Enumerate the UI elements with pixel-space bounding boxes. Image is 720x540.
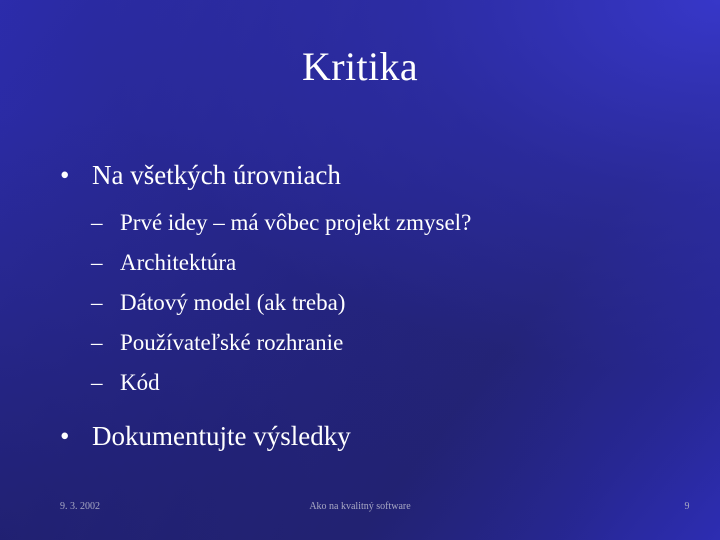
- bullet-level2-architektura: – Architektúra: [0, 243, 720, 283]
- dash-marker-icon: –: [91, 323, 103, 363]
- dash-marker-icon: –: [91, 363, 103, 403]
- bullet-level1-dokumentujte-vysledky: • Dokumentujte výsledky: [0, 419, 720, 453]
- bullet-level2-label: Kód: [120, 370, 160, 395]
- bullet-level2-label: Dátový model (ak treba): [120, 290, 345, 315]
- dash-marker-icon: –: [91, 283, 103, 323]
- slide-title-placeholder: Kritika: [0, 44, 720, 90]
- presentation-slide: Kritika • Na všetkých úrovniach – Prvé i…: [0, 0, 720, 540]
- bullet-level2-kod: – Kód: [0, 363, 720, 403]
- sub-bullet-list: – Prvé idey – má vôbec projekt zmysel? –…: [0, 203, 720, 403]
- footer-title: Ako na kvalitný software: [0, 500, 720, 514]
- slide-footer: 9. 3. 2002 Ako na kvalitný software 9: [0, 500, 720, 514]
- bullet-level2-prve-idey: – Prvé idey – má vôbec projekt zmysel?: [0, 203, 720, 243]
- bullet-level2-label: Prvé idey – má vôbec projekt zmysel?: [120, 210, 471, 235]
- dash-marker-icon: –: [91, 203, 103, 243]
- bullet-level1-row: • Dokumentujte výsledky: [0, 419, 720, 453]
- bullet-level1-na-vsetkych-urovniach: • Na všetkých úrovniach: [0, 158, 720, 192]
- bullet-level1-label: Na všetkých úrovniach: [92, 160, 341, 190]
- bullet-level2-pouzivatelske-rozhranie: – Používateľské rozhranie: [0, 323, 720, 363]
- bullet-level1-label: Dokumentujte výsledky: [92, 421, 351, 451]
- bullet-dot-icon: •: [60, 419, 69, 453]
- bullet-dot-icon: •: [60, 158, 69, 192]
- bullet-level2-label: Architektúra: [120, 250, 236, 275]
- slide-body-placeholder: • Na všetkých úrovniach – Prvé idey – má…: [0, 158, 720, 453]
- slide-number: 9: [654, 500, 720, 514]
- bullet-level2-label: Používateľské rozhranie: [120, 330, 343, 355]
- bullet-level2-datovy-model: – Dátový model (ak treba): [0, 283, 720, 323]
- dash-marker-icon: –: [91, 243, 103, 283]
- page-title: Kritika: [0, 44, 720, 90]
